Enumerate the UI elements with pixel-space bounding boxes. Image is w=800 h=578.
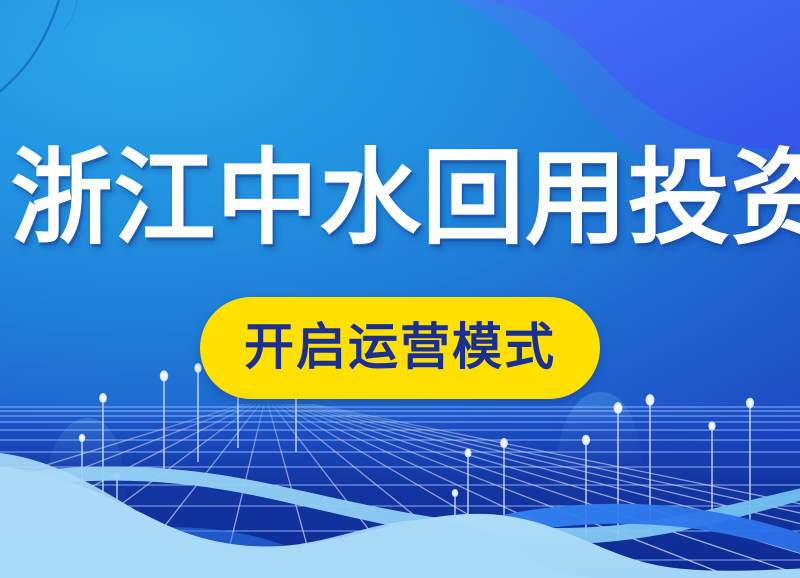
poster-title-wrap: 浙江中水回用投资项目 bbox=[0, 143, 800, 255]
poster-badge-wrap: 开启运营模式 bbox=[0, 297, 800, 399]
bottom-wave-shapes bbox=[0, 0, 800, 578]
poster-canvas: 浙江中水回用投资项目 开启运营模式 bbox=[0, 0, 800, 578]
poster-title: 浙江中水回用投资项目 bbox=[11, 143, 800, 255]
poster-badge[interactable]: 开启运营模式 bbox=[200, 297, 600, 399]
